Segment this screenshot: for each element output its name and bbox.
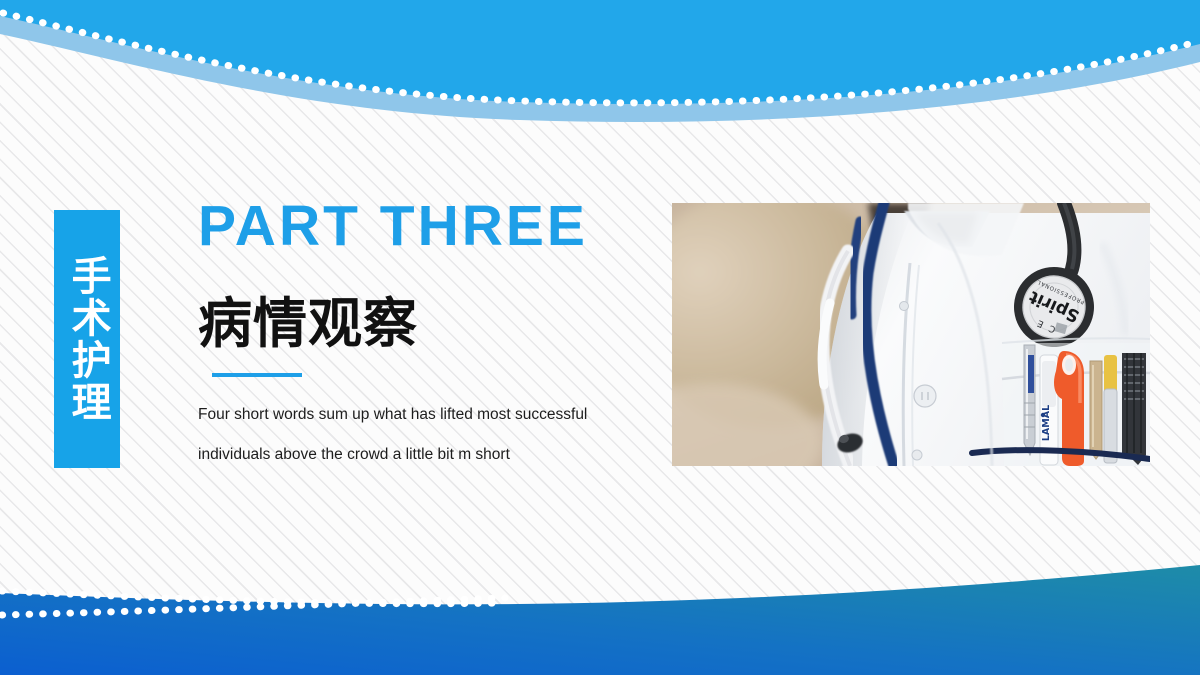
doctor-photo-graphic: Spirit PROFESSIONAL C E LAMAL bbox=[672, 203, 1150, 466]
presentation-slide: 手术护理 PART THREE 病情观察 Four short words su… bbox=[0, 0, 1200, 675]
doctor-photo: Spirit PROFESSIONAL C E LAMAL bbox=[672, 203, 1150, 466]
slide-text-column: PART THREE 病情观察 Four short words sum up … bbox=[198, 198, 628, 474]
svg-text:LAMAL: LAMAL bbox=[1041, 405, 1052, 441]
part-label: PART THREE bbox=[198, 198, 628, 255]
body-paragraph: Four short words sum up what has lifted … bbox=[198, 395, 616, 474]
section-label-block: 手术护理 bbox=[54, 210, 120, 468]
page-title: 病情观察 bbox=[198, 297, 628, 351]
accent-underline bbox=[212, 373, 302, 377]
section-label-vertical-text: 手术护理 bbox=[65, 255, 108, 423]
